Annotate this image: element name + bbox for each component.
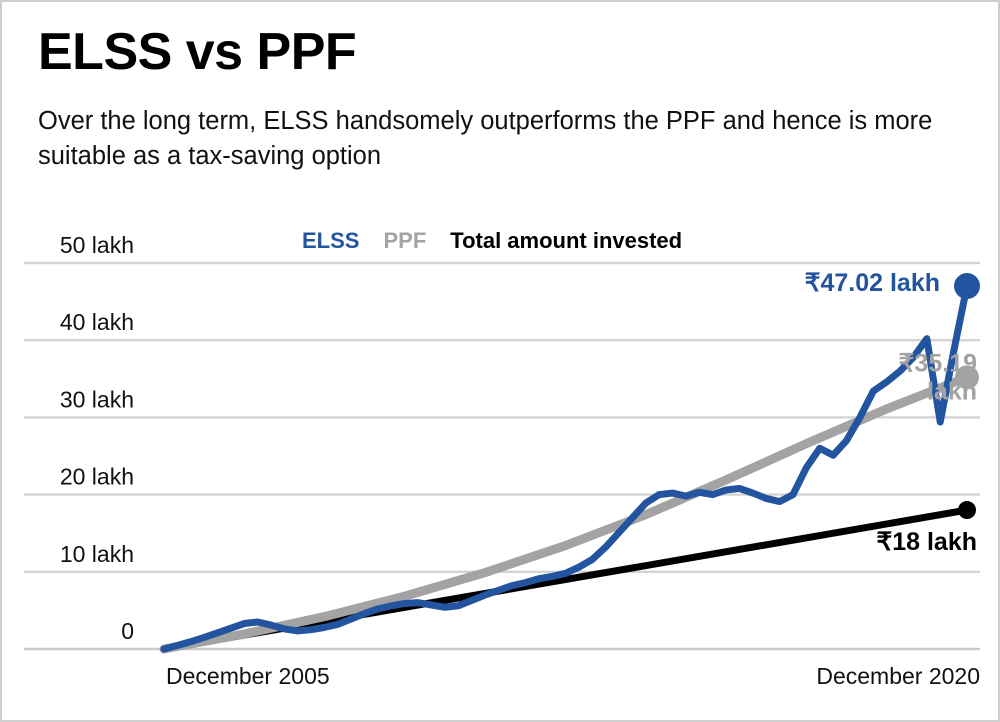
line-chart: 010 lakh20 lakh30 lakh40 lakh50 lakh Dec… <box>2 212 998 720</box>
y-tick-10: 10 lakh <box>60 541 134 567</box>
y-tick-30: 30 lakh <box>60 386 134 412</box>
x-axis-tick-labels: December 2005December 2020 <box>166 663 980 689</box>
infographic-inner: ELSS vs PPF Over the long term, ELSS han… <box>2 2 998 720</box>
y-tick-50: 50 lakh <box>60 232 134 258</box>
annotation-ppf-value-line2: lakh <box>927 377 977 405</box>
y-tick-20: 20 lakh <box>60 464 134 490</box>
endpoint-dot-total-amount-invested <box>958 501 976 519</box>
annotation-ppf-value-line1: ₹35.19 <box>899 349 977 377</box>
x-tick-end: December 2020 <box>816 663 980 689</box>
annotation-elss-value: ₹47.02 lakh <box>805 269 940 297</box>
annotation-total-invested-value: ₹18 lakh <box>876 528 977 556</box>
y-axis-tick-labels: 010 lakh20 lakh30 lakh40 lakh50 lakh <box>60 232 134 644</box>
y-tick-0: 0 <box>121 618 134 644</box>
page-title: ELSS vs PPF <box>38 26 356 78</box>
x-tick-start: December 2005 <box>166 663 330 689</box>
chart-area: 010 lakh20 lakh30 lakh40 lakh50 lakh Dec… <box>2 212 998 720</box>
infographic-page: ELSS vs PPF Over the long term, ELSS han… <box>0 0 1000 722</box>
y-tick-40: 40 lakh <box>60 309 134 335</box>
page-subtitle: Over the long term, ELSS handsomely outp… <box>38 104 968 174</box>
endpoint-dot-elss <box>954 273 980 299</box>
